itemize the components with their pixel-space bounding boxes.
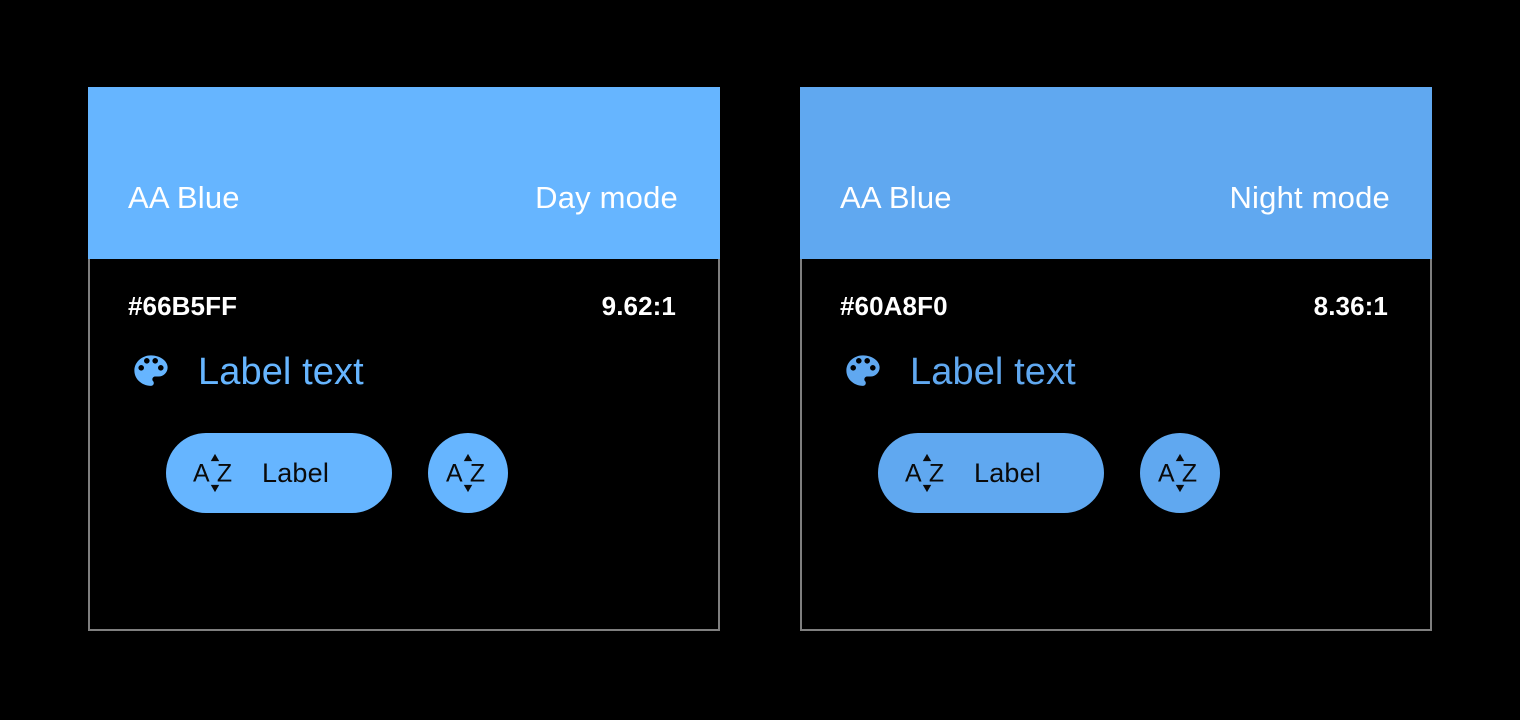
sort-alpha-icon: A Z [192,450,238,496]
svg-text:Z: Z [929,460,944,488]
label-row-day: Label text [128,331,680,413]
contrast-ratio-day: 9.62:1 [602,293,680,319]
svg-text:Z: Z [1182,460,1197,488]
card-header-day: AA Blue Day mode [88,87,720,259]
svg-text:Z: Z [217,460,232,488]
card-title-night: AA Blue [840,182,952,213]
meta-row-night: #60A8F0 8.36:1 [840,259,1392,331]
svg-text:A: A [905,460,922,488]
color-preview-card-night: AA Blue Night mode #60A8F0 8.36:1 Label … [800,87,1432,631]
sort-alpha-icon: A Z [904,450,950,496]
sort-alpha-icon: A Z [445,450,491,496]
svg-text:A: A [446,460,463,488]
sort-label-button-text-night: Label [974,460,1041,487]
card-mode-label-night: Night mode [1229,182,1390,213]
label-row-night: Label text [840,331,1392,413]
controls-row-day: A Z Label A Z [128,413,680,533]
svg-text:Z: Z [470,460,485,488]
card-title-day: AA Blue [128,182,240,213]
preview-stage: AA Blue Day mode #66B5FF 9.62:1 Label te… [0,0,1520,720]
card-header-night: AA Blue Night mode [800,87,1432,259]
palette-icon [130,351,172,393]
sort-fab-button-night[interactable]: A Z [1140,433,1220,513]
palette-icon [842,351,884,393]
sort-label-button-day[interactable]: A Z Label [166,433,392,513]
sort-alpha-icon: A Z [1157,450,1203,496]
card-body-night: #60A8F0 8.36:1 Label text A Z [800,259,1432,631]
label-text-day: Label text [198,353,364,391]
svg-text:A: A [193,460,210,488]
meta-row-day: #66B5FF 9.62:1 [128,259,680,331]
card-mode-label-day: Day mode [535,182,678,213]
svg-text:A: A [1158,460,1175,488]
label-text-night: Label text [910,353,1076,391]
hex-value-day: #66B5FF [128,293,237,319]
sort-fab-button-day[interactable]: A Z [428,433,508,513]
contrast-ratio-night: 8.36:1 [1314,293,1392,319]
sort-label-button-night[interactable]: A Z Label [878,433,1104,513]
color-preview-card-day: AA Blue Day mode #66B5FF 9.62:1 Label te… [88,87,720,631]
hex-value-night: #60A8F0 [840,293,948,319]
card-body-day: #66B5FF 9.62:1 Label text A Z [88,259,720,631]
sort-label-button-text-day: Label [262,460,329,487]
controls-row-night: A Z Label A Z [840,413,1392,533]
